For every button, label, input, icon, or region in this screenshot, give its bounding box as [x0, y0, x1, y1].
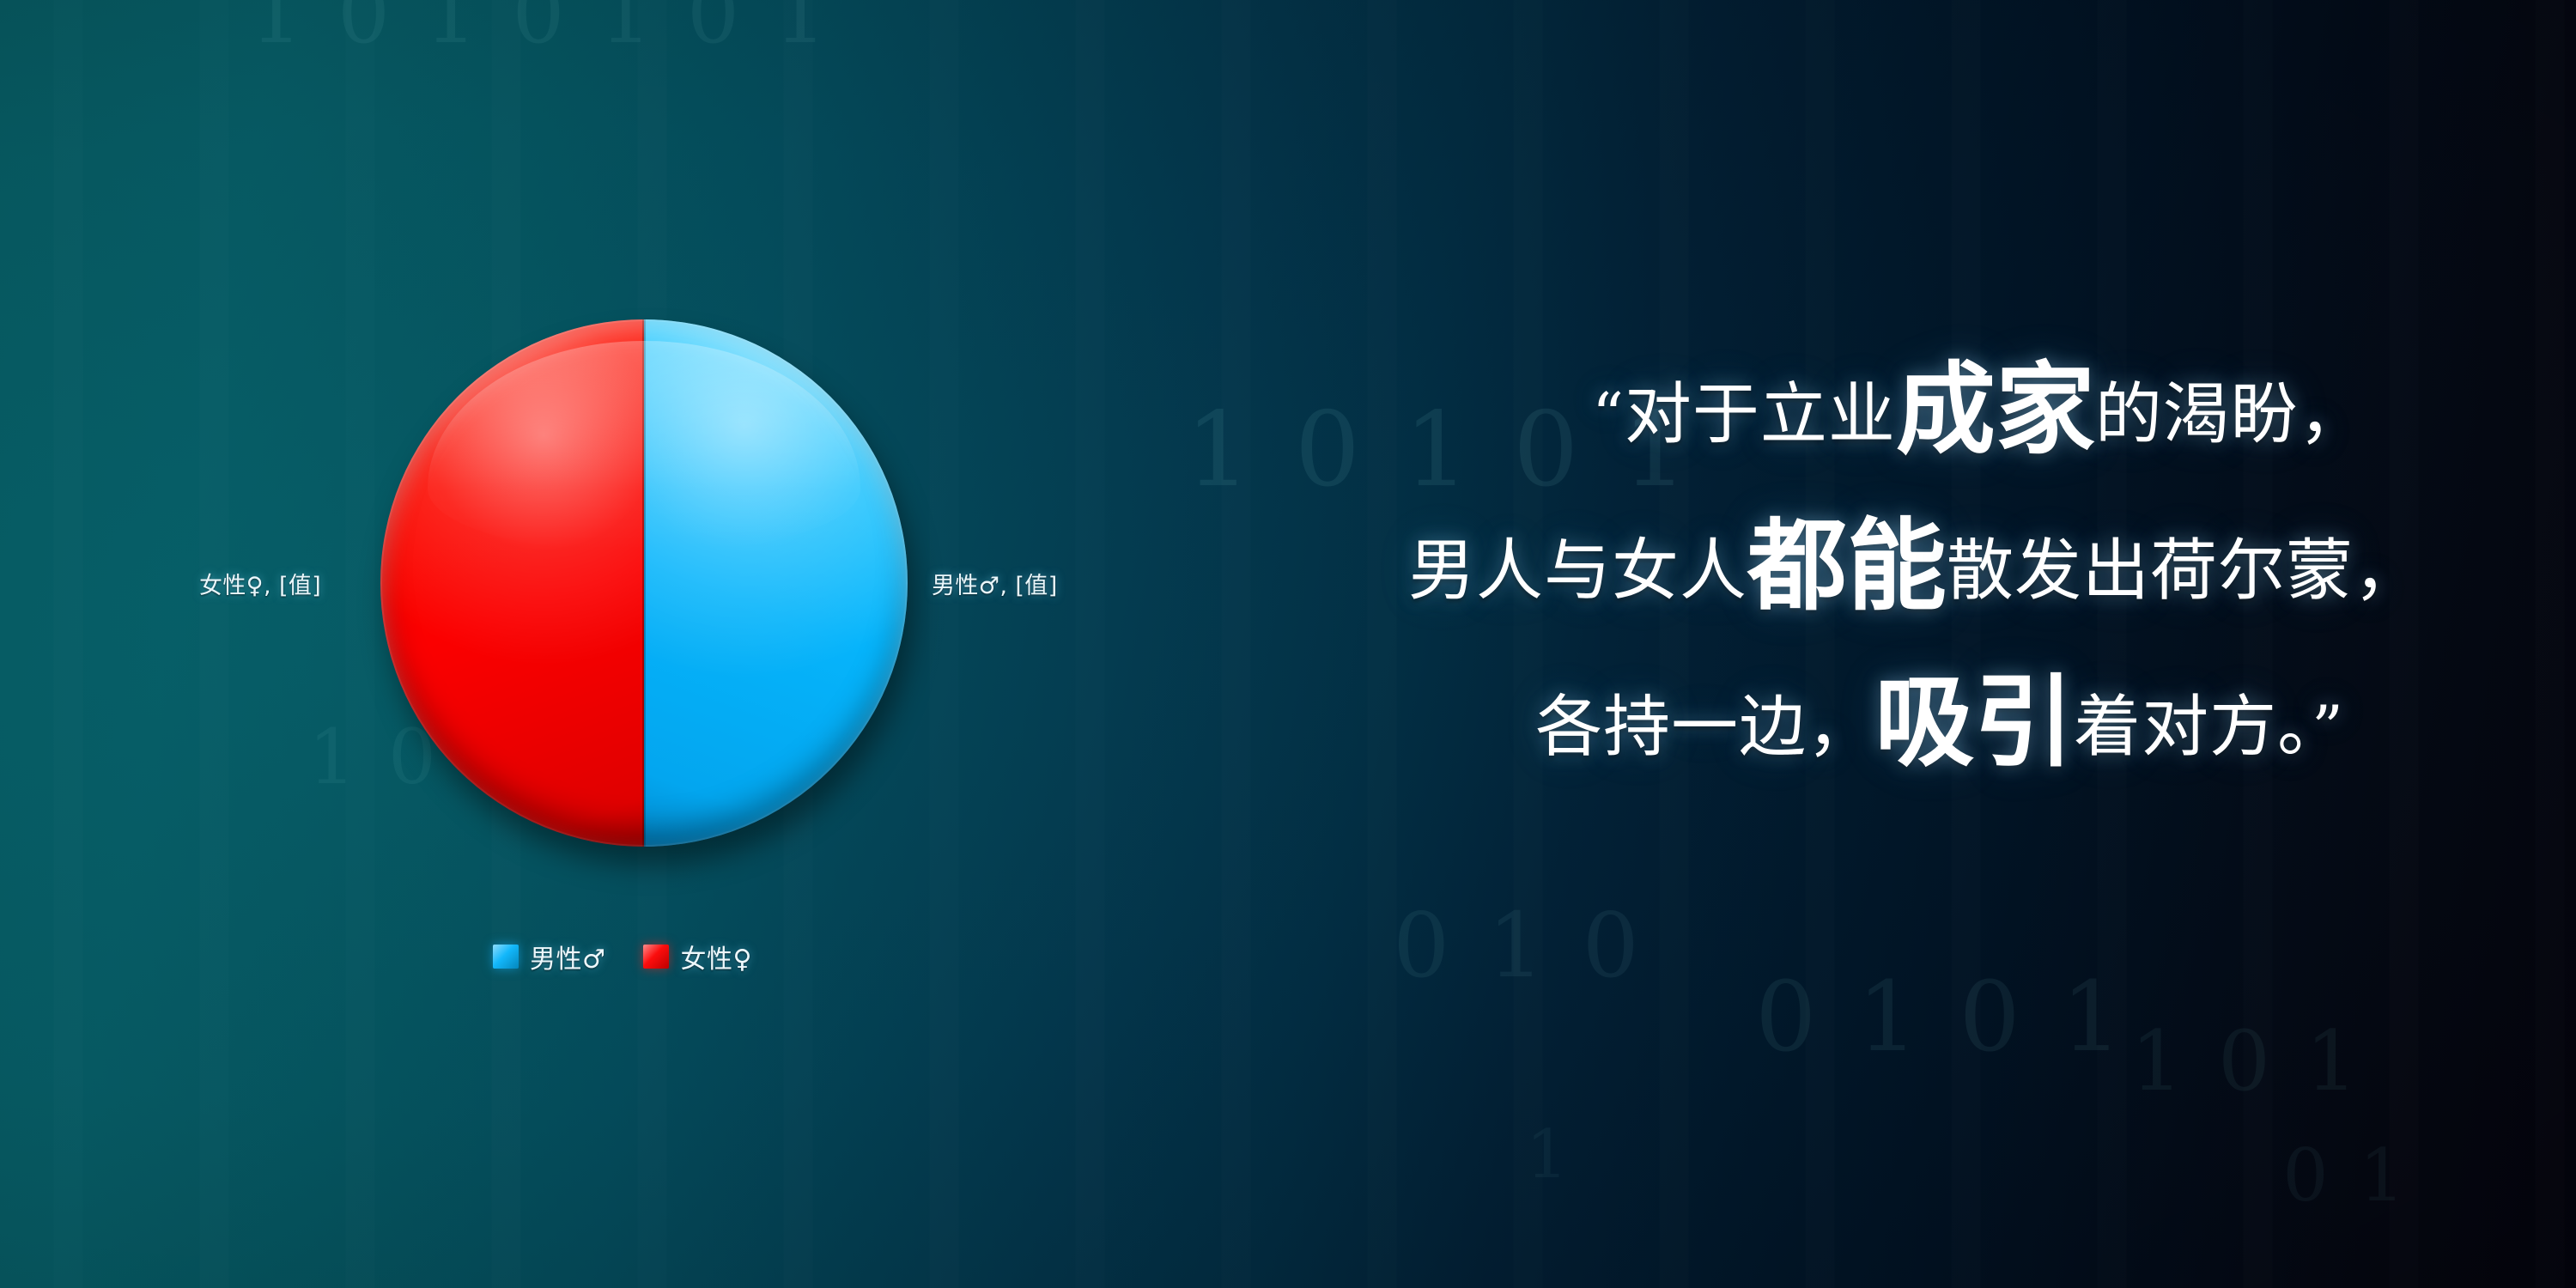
pie-slice-divider [642, 319, 646, 847]
quote-line-3-part-b: 着对方。 [2074, 689, 2312, 766]
quote-line-1: “对于立业成家的渴盼， [1288, 361, 2542, 460]
quote-line-3: 各持一边，吸引着对方。” [1288, 673, 2542, 773]
chart-legend: 男性♂ 女性♀ [0, 938, 1245, 975]
quote-line-3-emphasis: 吸引 [1874, 665, 2074, 781]
legend-label-male: 男性♂ [530, 938, 605, 975]
pie-slice-male[interactable] [644, 319, 908, 847]
pie-graphic[interactable] [380, 319, 908, 847]
legend-item-female[interactable]: 女性♀ [643, 938, 751, 975]
pie-data-label-male: 男性♂, [值] [932, 567, 1058, 600]
legend-item-male[interactable]: 男性♂ [493, 938, 605, 975]
quote-line-1-part-a: 对于立业 [1625, 376, 1896, 453]
quote-open-mark: “ [1592, 380, 1625, 452]
pie-data-label-female: 女性♀, [值] [199, 567, 321, 600]
pie-slice-female[interactable] [380, 319, 644, 847]
quote-line-1-part-b: 的渴盼， [2095, 376, 2366, 453]
quote-line-3-part-a: 各持一边， [1535, 689, 1874, 766]
quote-line-2-part-a: 男人与女人 [1408, 532, 1747, 610]
quote-line-2-emphasis: 都能 [1747, 508, 1947, 624]
quote-line-2: 男人与女人都能散发出荷尔蒙， [1288, 517, 2542, 617]
quote-block: “对于立业成家的渴盼， 男人与女人都能散发出荷尔蒙， 各持一边，吸引着对方。” [1288, 361, 2542, 773]
slide-canvas: 1 0 1 0 1 0 11 0 1 0 11 0 1 0 10 1 011 0… [0, 0, 2576, 1288]
legend-label-female: 女性♀ [680, 938, 751, 975]
pie-disc [380, 319, 908, 847]
legend-swatch-female-icon [643, 945, 669, 969]
pie-chart[interactable]: 女性♀, [值] 男性♂, [值] 男性♂ 女性♀ [0, 0, 1245, 1288]
quote-close-mark: ” [2312, 692, 2344, 764]
legend-swatch-male-icon [493, 945, 519, 969]
quote-line-1-emphasis: 成家 [1896, 352, 2095, 468]
quote-line-2-part-b: 散发出荷尔蒙， [1947, 532, 2421, 610]
